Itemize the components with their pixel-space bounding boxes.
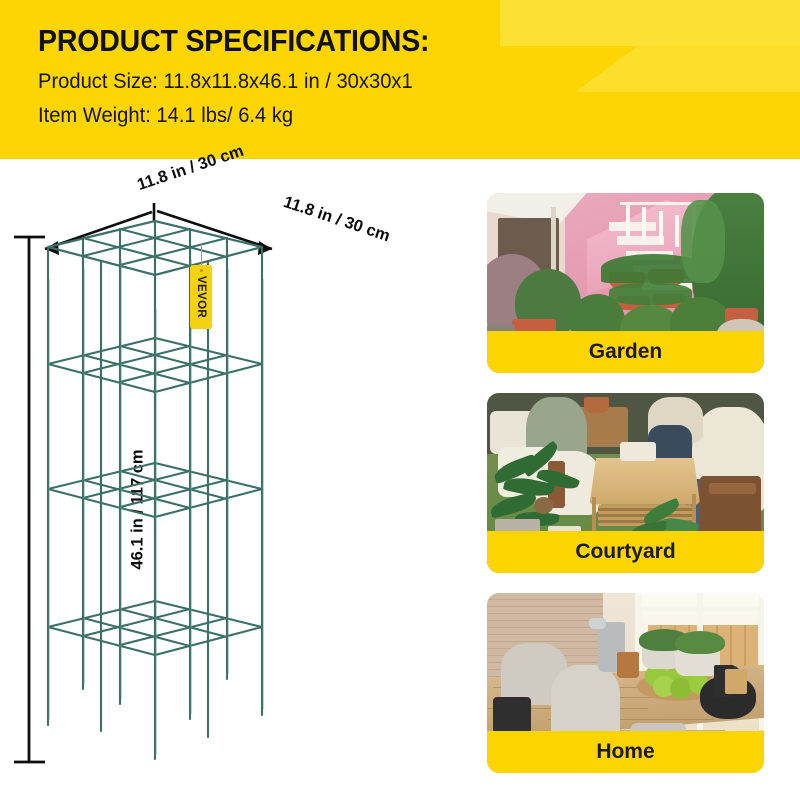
use-case-card-list: Garden	[487, 193, 764, 793]
spec-item-weight: Item Weight: 14.1 lbs/ 6.4 kg	[38, 104, 293, 128]
use-case-card-courtyard[interactable]: Courtyard	[487, 393, 764, 573]
card-label-home: Home	[487, 731, 764, 773]
use-case-card-garden[interactable]: Garden	[487, 193, 764, 373]
cage-highlights	[49, 259, 263, 755]
height-dimension-line	[14, 237, 45, 762]
cage-illustration	[0, 159, 470, 800]
plant-support-cage	[48, 221, 262, 759]
use-case-card-home[interactable]: Home	[487, 593, 764, 773]
card-label-text: Garden	[589, 340, 663, 364]
card-label-courtyard: Courtyard	[487, 531, 764, 573]
product-spec-page: PRODUCT SPECIFICATIONS: Product Size: 11…	[0, 0, 800, 800]
vevor-brand-tag: VEVOR	[190, 265, 212, 329]
card-label-text: Home	[596, 740, 654, 764]
card-label-text: Courtyard	[575, 540, 675, 564]
vevor-tag-label: VEVOR	[195, 276, 207, 318]
tag-hole	[200, 269, 203, 272]
page-title: PRODUCT SPECIFICATIONS:	[38, 23, 429, 59]
dimension-lines	[45, 203, 272, 255]
spec-product-size: Product Size: 11.8x11.8x46.1 in / 30x30x…	[38, 70, 413, 94]
specifications-header: PRODUCT SPECIFICATIONS: Product Size: 11…	[0, 0, 800, 159]
card-label-garden: Garden	[487, 331, 764, 373]
header-highlight-band	[500, 0, 800, 46]
